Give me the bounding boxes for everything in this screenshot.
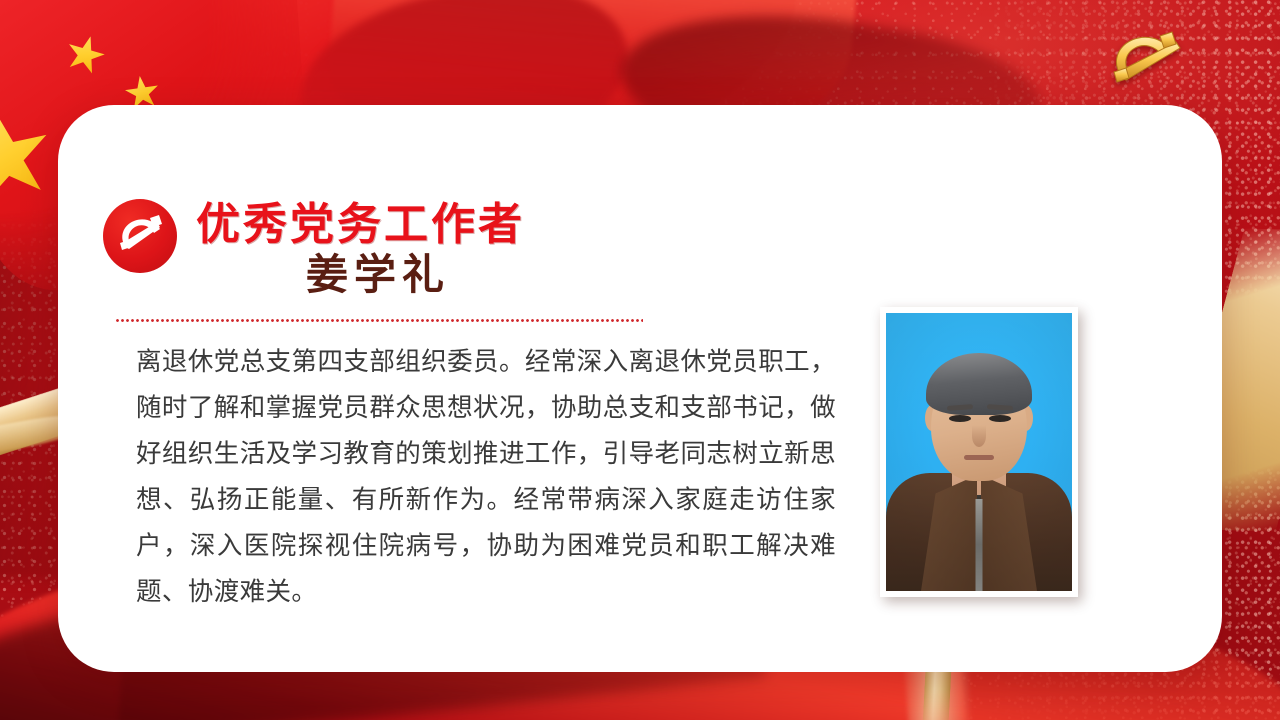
dotted-divider <box>115 319 643 322</box>
portrait-photo <box>886 313 1072 591</box>
portrait-vignette <box>886 313 1072 591</box>
content-card: 优秀党务工作者 姜学礼 离退休党总支第四支部组织委员。经常深入离退休党员职工，随… <box>58 105 1222 672</box>
portrait-photo-frame <box>880 307 1078 597</box>
slide-stage: 优秀党务工作者 姜学礼 离退休党总支第四支部组织委员。经常深入离退休党员职工，随… <box>0 0 1280 720</box>
flag-star-small-1 <box>62 31 109 78</box>
biography-text: 离退休党总支第四支部组织委员。经常深入离退休党员职工，随时了解和掌握党员群众思想… <box>136 339 836 615</box>
person-name: 姜学礼 <box>58 255 698 297</box>
page-title: 优秀党务工作者 <box>196 203 525 247</box>
gold-hammer-sickle-icon <box>1102 26 1194 94</box>
flag-star-large <box>0 103 60 212</box>
